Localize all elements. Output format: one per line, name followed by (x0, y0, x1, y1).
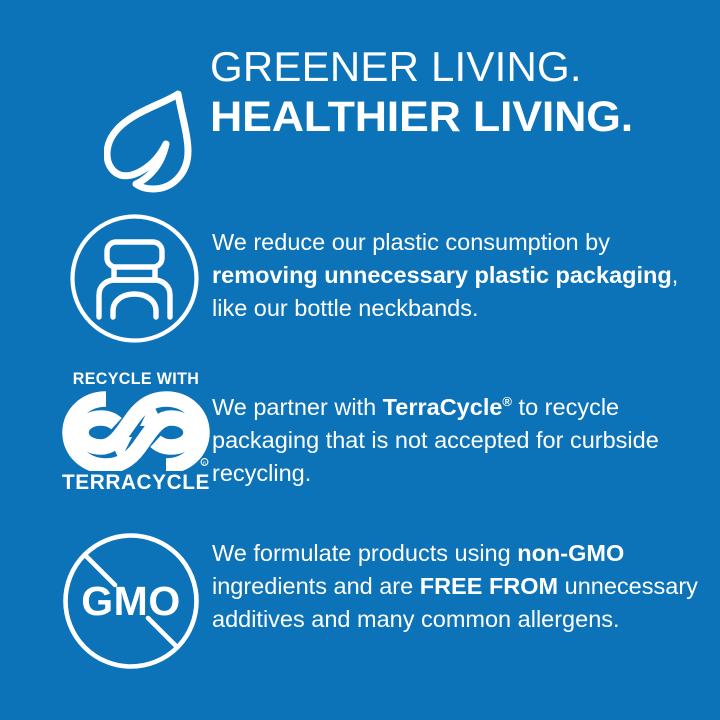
text-segment-bold: FREE FROM (420, 573, 558, 599)
feature-icon-cell: RECYCLE WITH (0, 368, 212, 510)
infinity-loop-icon: R (60, 391, 212, 471)
text-segment-bold: non-GMO (517, 540, 624, 566)
leaf-icon (104, 88, 200, 198)
feature-row-terracycle: RECYCLE WITH (0, 368, 720, 510)
feature-row-gmo: GMO We formulate products using non-GMO … (0, 528, 720, 670)
text-segment: ingredients and are (212, 573, 420, 599)
text-segment-bold: TerraCycle (383, 394, 503, 420)
text-segment: We formulate products using (212, 540, 517, 566)
feature-icon-cell (0, 206, 212, 348)
text-segment: We reduce our plastic consumption by (212, 229, 610, 255)
headline-text: GREENER LIVING. HEALTHIER LIVING. (210, 42, 710, 142)
registered-trademark-mark: ® (502, 394, 512, 409)
feature-row-plastic: We reduce our plastic consumption by rem… (0, 206, 720, 348)
headline-line-1: GREENER LIVING. (210, 42, 710, 92)
feature-text-gmo: We formulate products using non-GMO ingr… (212, 528, 720, 636)
svg-text:R: R (203, 460, 206, 465)
feature-icon-cell: GMO (0, 528, 212, 670)
feature-text-plastic: We reduce our plastic consumption by rem… (212, 206, 720, 325)
feature-text-terracycle: We partner with TerraCycle® to recycle p… (212, 368, 720, 490)
terracycle-bottom-label: TERRACYCLE (61, 472, 211, 494)
plastic-bottle-neckband-icon (68, 212, 201, 345)
no-gmo-icon: GMO (61, 531, 201, 671)
headline-line-2: HEALTHIER LIVING. (210, 92, 720, 142)
gmo-label: GMO (81, 578, 180, 624)
text-segment-bold: removing unnecessary plastic packaging (212, 262, 672, 288)
headline-block: GREENER LIVING. HEALTHIER LIVING. (0, 42, 720, 166)
text-segment: We partner with (212, 394, 383, 420)
terracycle-top-label: RECYCLE WITH (62, 370, 209, 388)
terracycle-recycle-icon: RECYCLE WITH (60, 370, 212, 502)
infographic-poster: GREENER LIVING. HEALTHIER LIVING. (0, 0, 720, 720)
